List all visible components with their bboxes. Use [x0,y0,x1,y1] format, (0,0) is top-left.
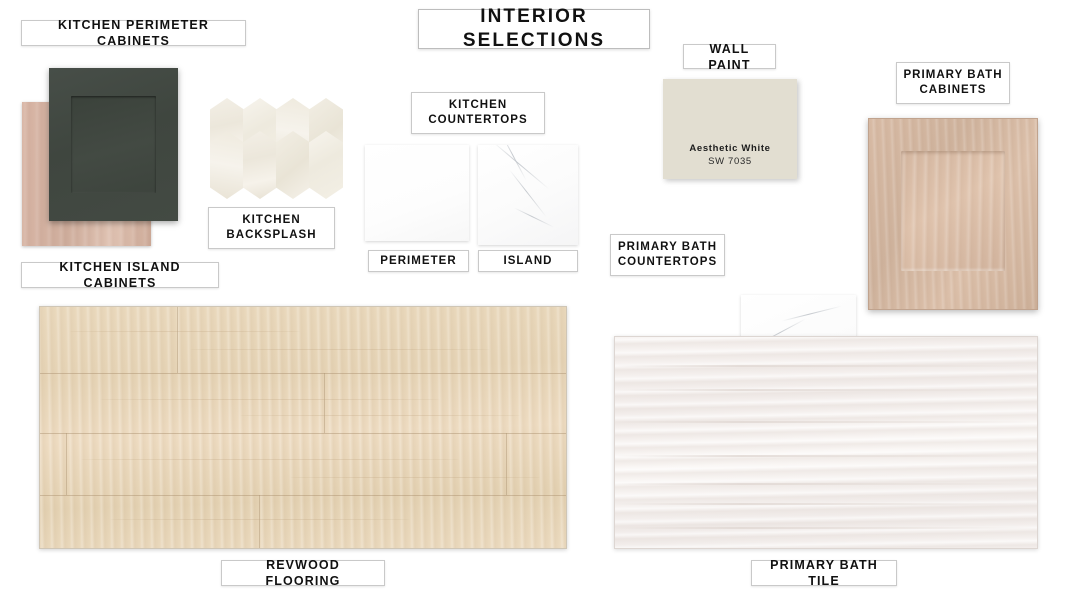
stone-vein-line [782,306,842,322]
swatch-kitchen-perimeter-cabinet-door [49,68,178,221]
cabinet-door-inset-panel [71,96,156,193]
label-kitchen-countertops: KITCHEN COUNTERTOPS [411,92,545,134]
label-primary-bath-tile: PRIMARY BATH TILE [751,560,897,586]
label-kitchen-perimeter-cabinets: KITCHEN PERIMETER CABINETS [21,20,246,46]
plank-seam [40,373,566,374]
backsplash-tile [276,131,310,199]
backsplash-tile [243,131,277,199]
plank-seam [506,433,507,495]
label-primary-bath-countertops: PRIMARY BATH COUNTERTOPS [610,234,725,276]
tile-striation [615,455,1037,457]
plank-seam [177,307,178,373]
swatch-kitchen-backsplash [208,98,348,198]
tile-striation [615,421,1037,423]
wood-grain-line [190,349,490,350]
label-kitchen-backsplash: KITCHEN BACKSPLASH [208,207,335,249]
paint-color-code: SW 7035 [708,156,752,169]
wood-grain-line [80,459,460,460]
swatch-revwood-flooring [39,306,567,549]
plank-seam [40,433,566,434]
tile-striation [615,365,1037,367]
tile-striation [615,503,1037,505]
tile-striation [615,389,1037,391]
stone-vein-line [509,170,547,218]
swatch-kitchen-perimeter-countertop [365,145,469,241]
label-kitchen-island-cabinets: KITCHEN ISLAND CABINETS [21,262,219,288]
swatch-kitchen-island-countertop [478,145,578,245]
plank-seam [324,373,325,433]
wood-grain-line [110,519,410,520]
stone-vein-line [514,207,554,227]
wood-grain-line [240,415,520,416]
tile-striation [615,483,1037,485]
interior-selections-board: INTERIOR SELECTIONS KITCHEN PERIMETER CA… [0,0,1067,600]
tile-striation [615,527,1037,529]
backsplash-tile [210,131,244,199]
wood-grain-line [100,399,440,400]
label-wall-paint: WALL PAINT [683,44,776,69]
plank-seam [40,495,566,496]
label-island: ISLAND [478,250,578,272]
swatch-primary-bath-tile [614,336,1038,549]
swatch-primary-bath-cabinet-door [868,118,1038,310]
paint-color-name: Aesthetic White [689,143,770,156]
label-perimeter: PERIMETER [368,250,469,272]
wood-grain-line [290,477,540,478]
cabinet-door-inset-panel [901,151,1005,271]
plank-seam [66,433,67,495]
wood-grain-line [70,331,300,332]
backsplash-tile [309,131,343,199]
swatch-wall-paint: Aesthetic White SW 7035 [663,79,797,179]
label-primary-bath-cabinets: PRIMARY BATH CABINETS [896,62,1010,104]
board-title: INTERIOR SELECTIONS [418,9,650,49]
label-revwood-flooring: REVWOOD FLOORING [221,560,385,586]
plank-seam [259,495,260,549]
